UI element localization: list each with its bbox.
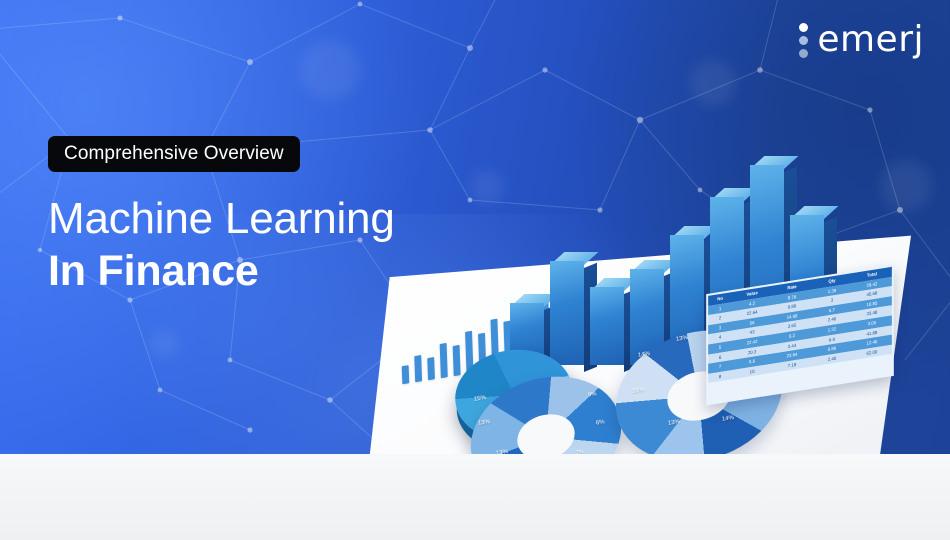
logo-wordmark: emerj [817,22,924,58]
bokeh-dot [690,60,736,106]
emerj-logo[interactable]: emerj [799,20,924,60]
headline-block: Comprehensive Overview Machine Learning … [48,136,478,296]
bokeh-dot [300,40,360,100]
page-body-area [0,454,950,540]
page-title-line1: Machine Learning [48,194,478,244]
bar-column [590,287,624,365]
bar-column [550,261,584,365]
overview-badge: Comprehensive Overview [48,136,300,172]
hero-banner: 13% 14% 7% 6% 9% 13% 15% 18% 6% 7% 14% 1… [0,0,950,454]
three-dots-icon [799,23,808,58]
page-title-line2: In Finance [48,246,478,296]
bokeh-dot [150,330,178,358]
